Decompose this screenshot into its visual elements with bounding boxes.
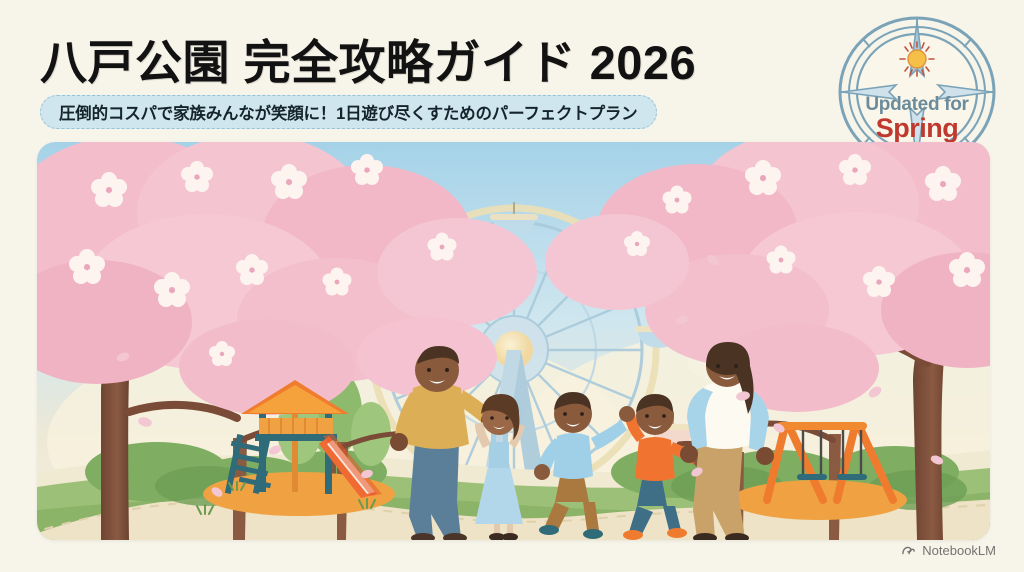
subtitle-ribbon: 圧倒的コスパで家族みんなが笑顔に！1日遊び尽くすためのパーフェクトプラン	[40, 95, 657, 129]
hero-illustration	[37, 142, 990, 540]
notebooklm-icon	[901, 543, 916, 558]
poster-canvas: 八戸公園 完全攻略ガイド 2026 圧倒的コスパで家族みんなが笑顔に！1日遊び尽…	[0, 0, 1024, 572]
page-title: 八戸公園 完全攻略ガイド 2026	[40, 24, 696, 93]
notebooklm-watermark: NotebookLM	[901, 543, 996, 558]
subtitle-text: 圧倒的コスパで家族みんなが笑顔に！1日遊び尽くすためのパーフェクトプラン	[59, 100, 638, 124]
sun-icon	[900, 42, 934, 76]
watermark-label: NotebookLM	[922, 543, 996, 558]
